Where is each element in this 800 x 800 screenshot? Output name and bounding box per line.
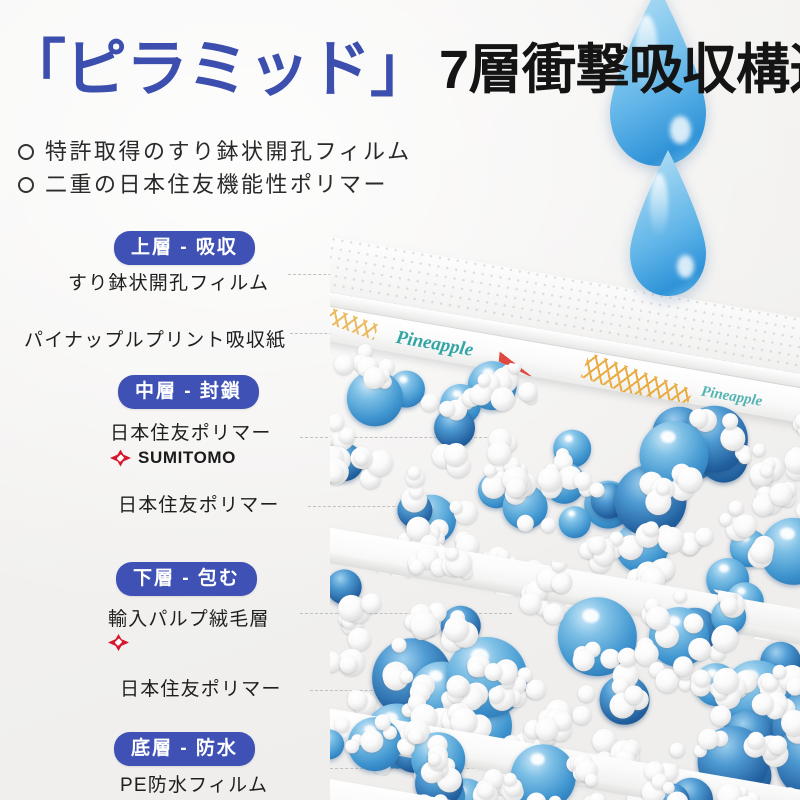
layer-badge-bottom[interactable]: 底層 - 防水 [114,732,255,766]
layer-label: すり鉢状開孔フィルム [68,270,269,297]
polymer-bead [577,684,597,704]
layer-label: PE防水フィルム [120,772,268,799]
polymer-bead [540,517,557,534]
layer-label: 日本住友ポリマー [110,420,272,447]
product-infographic: Pineapple Pineapple 「ピラミッド」 7層衝撃吸収構造 特許取… [0,0,800,800]
layer-label: 日本住友ポリマー [118,492,280,519]
circle-outline-icon [18,144,34,160]
sumitomo-brand-mark: SUMITOMO [110,448,272,468]
layer-label: パイナップルプリント吸収紙 [24,327,286,354]
sumitomo-brand-mark [108,634,270,651]
sumitomo-wordmark: SUMITOMO [138,448,236,468]
polymer-bead [571,704,593,726]
callout-label-lower-2: 日本住友ポリマー [120,676,282,703]
polymer-bead [420,392,441,413]
list-item: 二重の日本住友機能性ポリマー [18,168,412,201]
layer-badge-middle[interactable]: 中層 - 封鎖 [118,375,259,409]
layer-structure-illustration: Pineapple Pineapple [330,0,800,800]
feature-bullet-list: 特許取得のすり鉢状開孔フィルム 二重の日本住友機能性ポリマー [18,135,412,201]
polymer-bead [752,443,767,458]
page-title: 「ピラミッド」 7層衝撃吸収構造 [4,36,800,104]
callout-group-bottom-layer: 底層 - 防水 [114,732,255,766]
title-highlight: 「ピラミッド」 [4,39,431,101]
polymer-bead [333,353,356,376]
callout-label-middle-1: 日本住友ポリマー SUMITOMO [110,420,272,468]
bullet-label: 特許取得のすり鉢状開孔フィルム [45,135,412,168]
water-droplet-small-icon [630,150,706,296]
layer-badge-top[interactable]: 上層 - 吸収 [114,231,255,265]
title-rest: 7層衝撃吸収構造 [439,41,800,99]
list-item: 特許取得のすり鉢状開孔フィルム [18,135,412,168]
layer-label: 日本住友ポリマー [120,676,282,703]
callout-group-top-layer: 上層 - 吸収 [114,231,255,265]
callout-label-lower-1: 輸入パルプ絨毛層 [108,606,270,651]
layer-label: 輸入パルプ絨毛層 [108,606,270,633]
bullet-label: 二重の日本住友機能性ポリマー [45,168,388,201]
callout-label-bottom-1: PE防水フィルム [120,772,268,799]
sumitomo-diamond-icon [108,634,129,651]
polymer-bead [673,589,688,604]
callout-label-middle-2: 日本住友ポリマー [118,492,280,519]
polymer-bead [669,741,686,758]
callout-label-top-2: パイナップルプリント吸収紙 [24,327,286,354]
callout-group-middle-layer: 中層 - 封鎖 [118,375,259,409]
callout-group-lower-layer: 下層 - 包む [116,562,257,596]
sumitomo-diamond-icon [110,450,131,467]
circle-outline-icon [18,177,34,193]
callout-label-top-1: すり鉢状開孔フィルム [68,270,269,297]
layer-badge-lower[interactable]: 下層 - 包む [116,562,257,596]
